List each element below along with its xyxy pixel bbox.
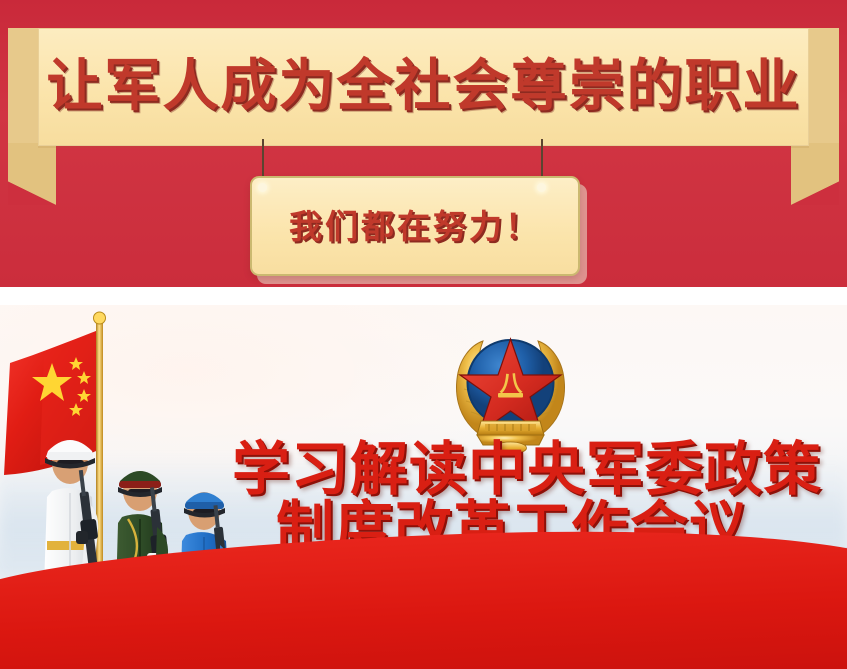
slogan-ribbon: 让军人成为全社会尊崇的职业 [38, 28, 809, 146]
slogan-title: 让军人成为全社会尊崇的职业 [47, 59, 801, 115]
poster-page: 让军人成为全社会尊崇的职业 我们都在努力！ [0, 0, 847, 669]
pin-left-icon [258, 183, 267, 192]
slogan-banner-panel: 让军人成为全社会尊崇的职业 我们都在努力！ [0, 0, 847, 287]
conference-poster-panel: 八 [0, 305, 847, 669]
panel-separator [0, 287, 847, 305]
pin-right-icon [537, 183, 546, 192]
subtitle-text: 我们都在努力！ [289, 210, 541, 243]
headline-line-1: 学习解读中央军委政策 [232, 440, 792, 499]
subtitle-card: 我们都在努力！ [250, 176, 580, 276]
